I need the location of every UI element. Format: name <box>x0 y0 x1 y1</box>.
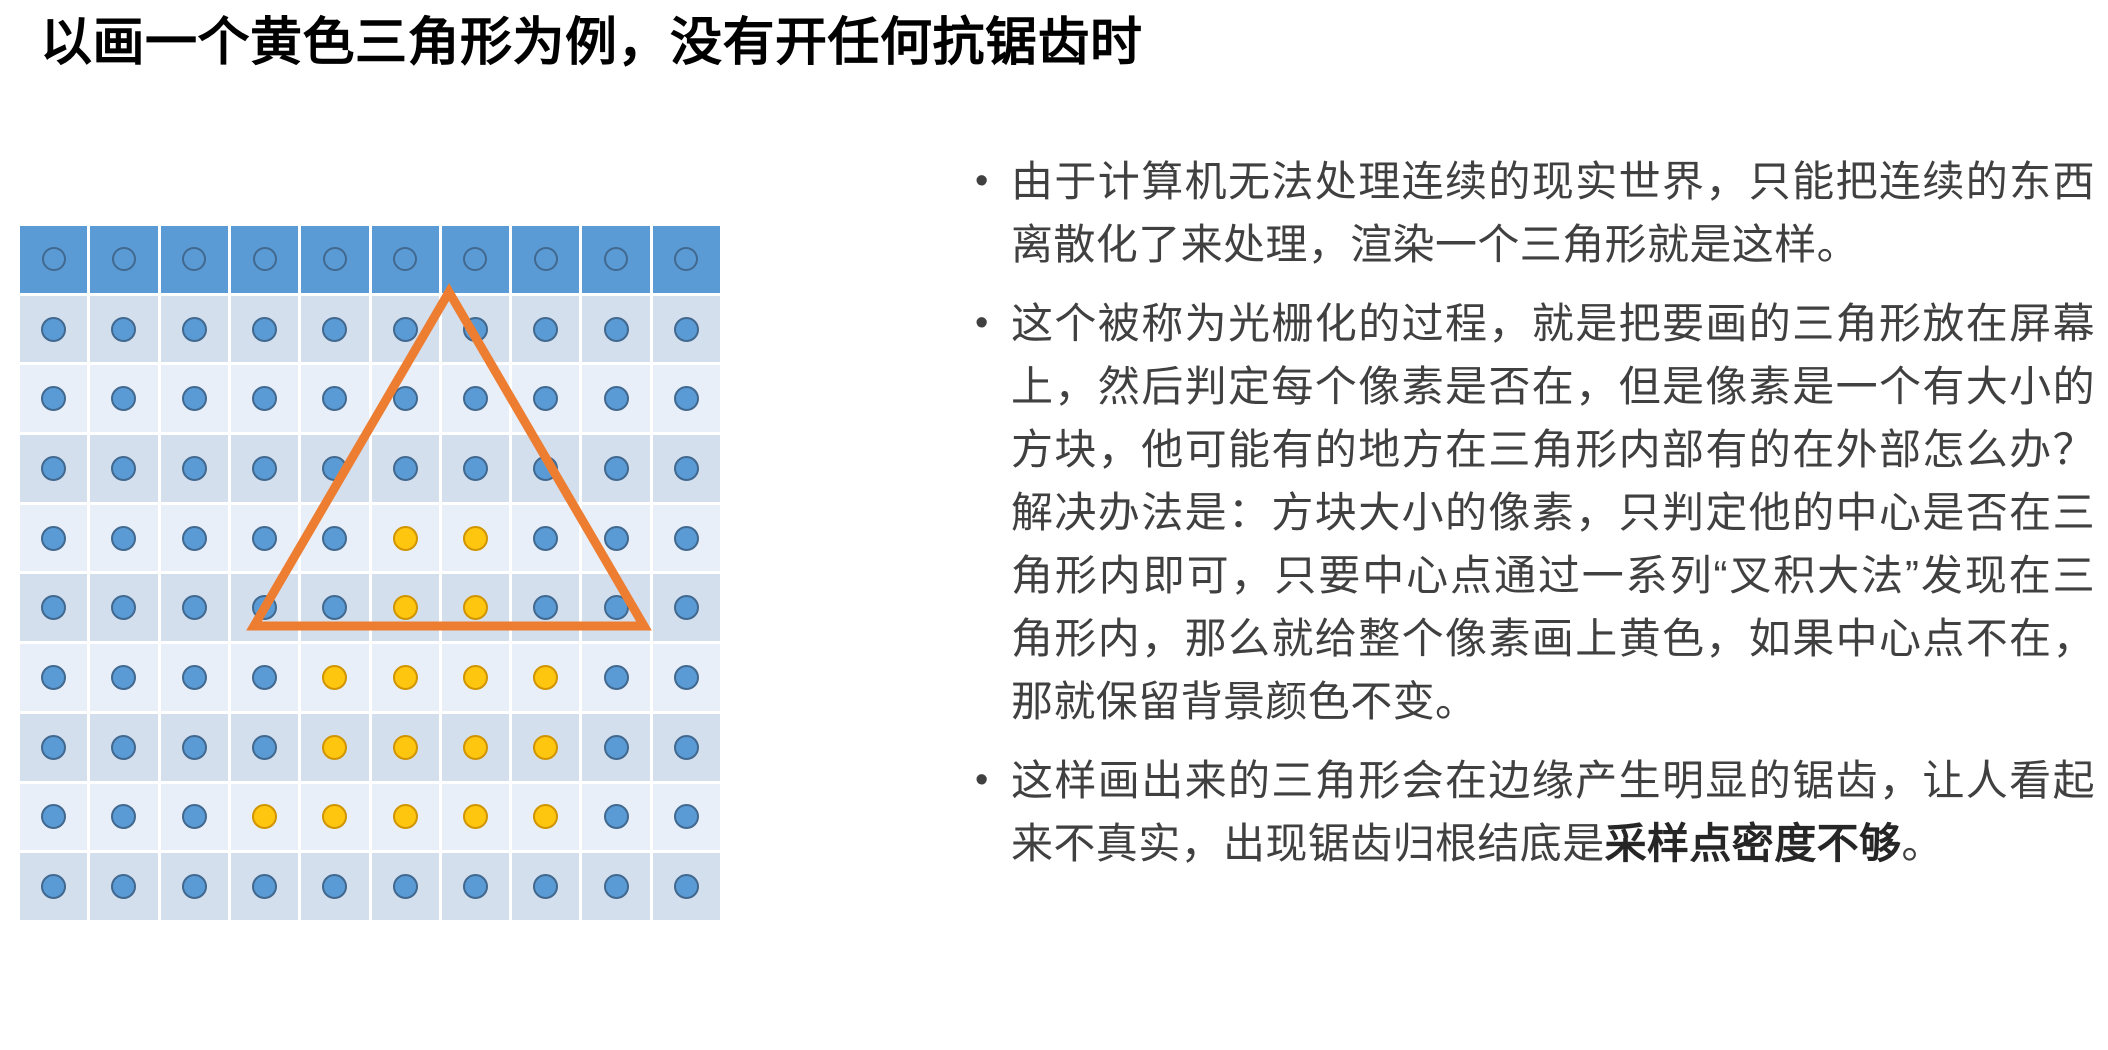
sample-point-blue-icon <box>41 456 66 481</box>
sample-point-blue-icon <box>111 386 136 411</box>
bullet-marker-icon: • <box>975 292 1011 733</box>
pixel-cell <box>653 853 720 920</box>
pixel-cell <box>653 226 720 293</box>
pixel-cell <box>512 435 579 502</box>
pixel-cell <box>301 505 368 572</box>
pixel-cell <box>90 853 157 920</box>
pixel-cell <box>20 574 87 641</box>
sample-point-hollow-icon <box>42 247 66 271</box>
pixel-cell <box>512 574 579 641</box>
pixel-cell <box>301 435 368 502</box>
sample-point-yellow-icon <box>393 665 418 690</box>
sample-point-blue-icon <box>41 386 66 411</box>
list-item: • 由于计算机无法处理连续的现实世界，只能把连续的东西离散化了来处理，渲染一个三… <box>975 150 2095 276</box>
pixel-cell <box>372 226 439 293</box>
sample-point-blue-icon <box>252 526 277 551</box>
pixel-cell <box>582 714 649 781</box>
sample-point-blue-icon <box>533 874 558 899</box>
sample-point-blue-icon <box>604 526 629 551</box>
sample-point-blue-icon <box>111 735 136 760</box>
pixel-cell <box>20 644 87 711</box>
sample-point-blue-icon <box>604 665 629 690</box>
sample-point-blue-icon <box>182 456 207 481</box>
pixel-cell <box>653 784 720 851</box>
sample-point-blue-icon <box>604 804 629 829</box>
pixel-cell <box>301 644 368 711</box>
pixel-cell <box>161 853 228 920</box>
sample-point-blue-icon <box>252 735 277 760</box>
pixel-cell <box>90 505 157 572</box>
pixel-cell <box>301 365 368 432</box>
rasterization-pixel-grid <box>20 226 720 920</box>
pixel-cell <box>372 714 439 781</box>
sample-point-yellow-icon <box>463 804 488 829</box>
pixel-cell <box>582 435 649 502</box>
pixel-cell <box>90 435 157 502</box>
pixel-cell <box>372 365 439 432</box>
pixel-cell <box>512 644 579 711</box>
pixel-cell <box>442 784 509 851</box>
pixel-cell <box>20 505 87 572</box>
pixel-cell <box>231 365 298 432</box>
pixel-cell <box>442 505 509 572</box>
sample-point-blue-icon <box>393 386 418 411</box>
sample-point-blue-icon <box>111 595 136 620</box>
sample-point-blue-icon <box>182 804 207 829</box>
sample-point-blue-icon <box>604 386 629 411</box>
pixel-cell <box>231 644 298 711</box>
sample-point-yellow-icon <box>322 735 347 760</box>
sample-point-blue-icon <box>182 386 207 411</box>
sample-point-blue-icon <box>252 456 277 481</box>
sample-point-blue-icon <box>41 317 66 342</box>
sample-point-blue-icon <box>604 874 629 899</box>
bullet-list: • 由于计算机无法处理连续的现实世界，只能把连续的东西离散化了来处理，渲染一个三… <box>975 150 2095 891</box>
pixel-cell <box>653 505 720 572</box>
sample-point-blue-icon <box>674 874 699 899</box>
sample-point-blue-icon <box>674 386 699 411</box>
pixel-cell <box>161 365 228 432</box>
pixel-cell <box>442 226 509 293</box>
pixel-cell <box>231 574 298 641</box>
list-item: • 这个被称为光栅化的过程，就是把要画的三角形放在屏幕上，然后判定每个像素是否在… <box>975 292 2095 733</box>
sample-point-blue-icon <box>674 526 699 551</box>
sample-point-hollow-icon <box>182 247 206 271</box>
pixel-cell <box>653 644 720 711</box>
sample-point-blue-icon <box>41 595 66 620</box>
pixel-cell <box>20 226 87 293</box>
pixel-cell <box>442 853 509 920</box>
sample-point-hollow-icon <box>604 247 628 271</box>
sample-point-blue-icon <box>41 735 66 760</box>
sample-point-blue-icon <box>604 317 629 342</box>
pixel-cell <box>512 714 579 781</box>
pixel-cell <box>372 435 439 502</box>
sample-point-blue-icon <box>252 317 277 342</box>
pixel-cell <box>653 435 720 502</box>
sample-point-blue-icon <box>463 456 488 481</box>
pixel-cell <box>582 644 649 711</box>
sample-point-blue-icon <box>182 595 207 620</box>
sample-point-blue-icon <box>111 526 136 551</box>
pixel-cell <box>372 296 439 363</box>
pixel-cell <box>582 853 649 920</box>
sample-point-blue-icon <box>674 735 699 760</box>
sample-point-blue-icon <box>674 665 699 690</box>
pixel-cell <box>90 365 157 432</box>
pixel-cell <box>372 644 439 711</box>
pixel-cell <box>372 505 439 572</box>
sample-point-blue-icon <box>182 526 207 551</box>
pixel-cell <box>442 574 509 641</box>
sample-point-blue-icon <box>533 386 558 411</box>
slide-canvas: 以画一个黄色三角形为例，没有开任何抗锯齿时 • 由于计算机无法处理连续的现实世界… <box>0 0 2108 1050</box>
pixel-cell <box>20 296 87 363</box>
sample-point-hollow-icon <box>253 247 277 271</box>
bullet-marker-icon: • <box>975 749 1011 875</box>
sample-point-blue-icon <box>111 317 136 342</box>
pixel-cell <box>231 505 298 572</box>
sample-point-blue-icon <box>463 874 488 899</box>
pixel-cell <box>512 226 579 293</box>
pixel-cell <box>161 644 228 711</box>
pixel-cell <box>20 714 87 781</box>
sample-point-blue-icon <box>604 735 629 760</box>
bullet-text-3-tail: 。 <box>1901 820 1943 867</box>
sample-point-blue-icon <box>252 665 277 690</box>
sample-point-hollow-icon <box>323 247 347 271</box>
pixel-cell <box>231 296 298 363</box>
pixel-cell <box>442 644 509 711</box>
sample-point-blue-icon <box>252 595 277 620</box>
bullet-text-3-emphasis: 采样点密度不够 <box>1605 820 1902 867</box>
sample-point-blue-icon <box>322 386 347 411</box>
sample-point-yellow-icon <box>533 804 558 829</box>
pixel-cell <box>90 574 157 641</box>
sample-point-blue-icon <box>463 386 488 411</box>
pixel-cell <box>512 365 579 432</box>
sample-point-blue-icon <box>41 665 66 690</box>
sample-point-yellow-icon <box>463 665 488 690</box>
pixel-cell <box>231 784 298 851</box>
pixel-cell <box>442 296 509 363</box>
pixel-cell <box>512 505 579 572</box>
sample-point-blue-icon <box>533 317 558 342</box>
pixel-cell <box>301 714 368 781</box>
sample-point-yellow-icon <box>533 665 558 690</box>
pixel-cell <box>161 435 228 502</box>
sample-point-yellow-icon <box>463 526 488 551</box>
pixel-cell <box>301 226 368 293</box>
pixel-cell <box>301 784 368 851</box>
pixel-cell <box>161 784 228 851</box>
pixel-cell <box>231 853 298 920</box>
sample-point-blue-icon <box>533 526 558 551</box>
pixel-cell <box>90 784 157 851</box>
sample-point-blue-icon <box>393 317 418 342</box>
sample-point-blue-icon <box>674 317 699 342</box>
sample-point-blue-icon <box>393 874 418 899</box>
sample-point-yellow-icon <box>463 735 488 760</box>
bullet-text-1: 由于计算机无法处理连续的现实世界，只能把连续的东西离散化了来处理，渲染一个三角形… <box>1011 150 2095 276</box>
sample-point-blue-icon <box>41 804 66 829</box>
sample-point-blue-icon <box>674 804 699 829</box>
sample-point-yellow-icon <box>393 526 418 551</box>
sample-point-yellow-icon <box>393 735 418 760</box>
pixel-cell <box>582 365 649 432</box>
pixel-cell <box>301 296 368 363</box>
pixel-cell <box>442 365 509 432</box>
sample-point-blue-icon <box>604 456 629 481</box>
sample-point-blue-icon <box>182 317 207 342</box>
pixel-cell <box>161 505 228 572</box>
pixel-cell <box>653 714 720 781</box>
pixel-cell <box>161 226 228 293</box>
bullet-marker-icon: • <box>975 150 1011 276</box>
pixel-cell <box>372 784 439 851</box>
pixel-cell <box>582 296 649 363</box>
sample-point-hollow-icon <box>393 247 417 271</box>
sample-point-yellow-icon <box>393 595 418 620</box>
sample-point-yellow-icon <box>533 735 558 760</box>
sample-point-blue-icon <box>252 386 277 411</box>
sample-point-hollow-icon <box>112 247 136 271</box>
sample-point-yellow-icon <box>393 804 418 829</box>
pixel-cell <box>90 644 157 711</box>
bullet-text-3: 这样画出来的三角形会在边缘产生明显的锯齿，让人看起来不真实，出现锯齿归根结底是采… <box>1011 749 2095 875</box>
bullet-text-2: 这个被称为光栅化的过程，就是把要画的三角形放在屏幕上，然后判定每个像素是否在，但… <box>1011 292 2095 733</box>
pixel-cell <box>20 435 87 502</box>
sample-point-blue-icon <box>393 456 418 481</box>
pixel-cell <box>231 435 298 502</box>
pixel-cell <box>582 505 649 572</box>
sample-point-hollow-icon <box>534 247 558 271</box>
pixel-cell <box>442 435 509 502</box>
pixel-cell <box>20 784 87 851</box>
pixel-cell <box>161 714 228 781</box>
pixel-cell <box>653 365 720 432</box>
page-title: 以画一个黄色三角形为例，没有开任何抗锯齿时 <box>40 12 1940 74</box>
pixel-cell <box>20 853 87 920</box>
sample-point-blue-icon <box>322 595 347 620</box>
sample-point-blue-icon <box>322 526 347 551</box>
pixel-cell <box>512 853 579 920</box>
sample-point-blue-icon <box>674 595 699 620</box>
pixel-cell <box>512 296 579 363</box>
pixel-cell <box>653 296 720 363</box>
pixel-cell <box>301 853 368 920</box>
sample-point-blue-icon <box>111 456 136 481</box>
sample-point-blue-icon <box>322 317 347 342</box>
pixel-cell <box>20 365 87 432</box>
sample-point-blue-icon <box>41 526 66 551</box>
pixel-cell <box>90 714 157 781</box>
sample-point-yellow-icon <box>463 595 488 620</box>
sample-point-yellow-icon <box>252 804 277 829</box>
pixel-cell <box>90 296 157 363</box>
pixel-cell <box>161 296 228 363</box>
sample-point-yellow-icon <box>322 804 347 829</box>
sample-point-blue-icon <box>322 456 347 481</box>
sample-point-hollow-icon <box>463 247 487 271</box>
pixel-cell <box>231 714 298 781</box>
sample-point-blue-icon <box>111 665 136 690</box>
pixel-cell <box>653 574 720 641</box>
pixel-cell <box>301 574 368 641</box>
sample-point-blue-icon <box>674 456 699 481</box>
sample-point-blue-icon <box>463 317 488 342</box>
pixel-cell <box>372 853 439 920</box>
sample-point-blue-icon <box>182 735 207 760</box>
pixel-grid <box>20 226 720 920</box>
sample-point-hollow-icon <box>674 247 698 271</box>
sample-point-blue-icon <box>41 874 66 899</box>
sample-point-blue-icon <box>533 456 558 481</box>
sample-point-blue-icon <box>533 595 558 620</box>
sample-point-blue-icon <box>111 804 136 829</box>
sample-point-blue-icon <box>111 874 136 899</box>
pixel-cell <box>582 784 649 851</box>
list-item: • 这样画出来的三角形会在边缘产生明显的锯齿，让人看起来不真实，出现锯齿归根结底… <box>975 749 2095 875</box>
pixel-cell <box>90 226 157 293</box>
sample-point-blue-icon <box>182 874 207 899</box>
pixel-cell <box>231 226 298 293</box>
sample-point-blue-icon <box>182 665 207 690</box>
pixel-cell <box>442 714 509 781</box>
pixel-cell <box>512 784 579 851</box>
pixel-cell <box>161 574 228 641</box>
pixel-cell <box>582 226 649 293</box>
sample-point-blue-icon <box>252 874 277 899</box>
sample-point-blue-icon <box>604 595 629 620</box>
pixel-cell <box>372 574 439 641</box>
sample-point-blue-icon <box>322 874 347 899</box>
pixel-cell <box>582 574 649 641</box>
sample-point-yellow-icon <box>322 665 347 690</box>
